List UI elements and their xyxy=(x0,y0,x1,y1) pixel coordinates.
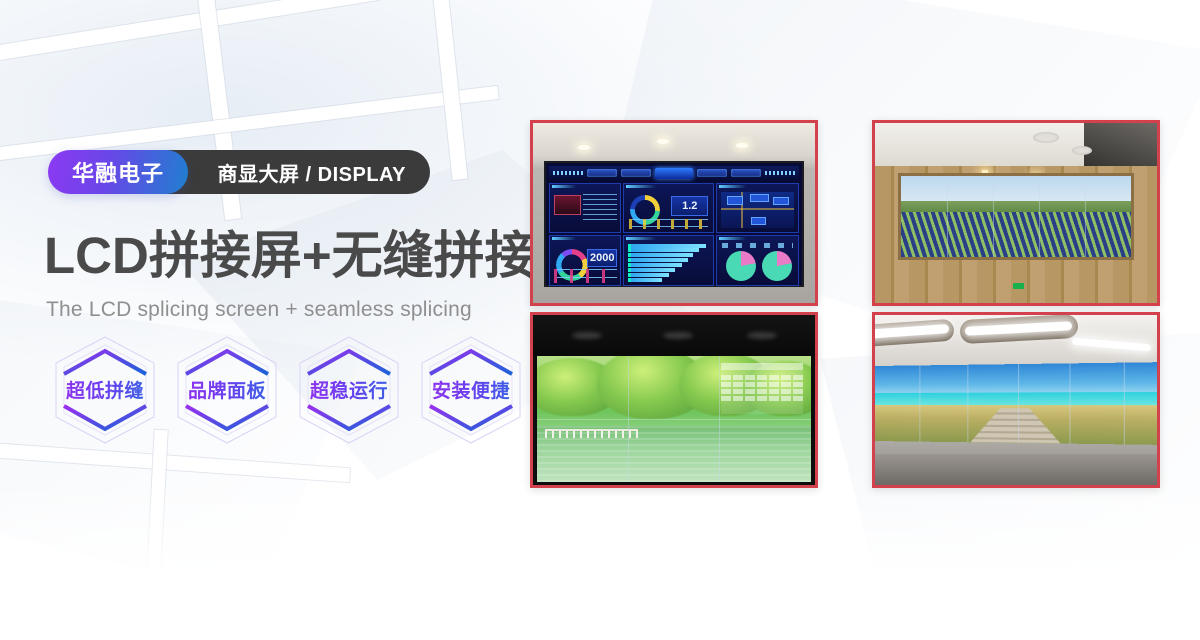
brand-pill-label: 华融电子 xyxy=(72,156,164,188)
bezel-reflection xyxy=(747,332,777,339)
screen-seam xyxy=(1018,364,1019,443)
video-wall-screen xyxy=(537,356,811,482)
screen-seam xyxy=(947,176,948,256)
screen-content-calendar xyxy=(721,363,803,413)
screen-content-railing xyxy=(545,429,638,438)
video-wall-screen: 1.2 2000 xyxy=(544,161,803,287)
photo-scene xyxy=(875,123,1157,303)
bezel-reflection xyxy=(663,332,693,339)
feature-badge-3: 安装便捷 xyxy=(416,334,526,446)
dashboard-row-top: 1.2 xyxy=(549,183,798,233)
screen-seam xyxy=(537,419,811,420)
calendar-header xyxy=(721,363,803,370)
photo-dashboard-video-wall: 1.2 2000 xyxy=(530,120,818,306)
screen-seam xyxy=(1070,363,1071,443)
screen-content-sky xyxy=(901,176,1132,202)
dashboard-row-bottom: 2000 xyxy=(549,235,798,286)
kpi-value: 1.2 xyxy=(671,196,708,216)
ceiling-fixture xyxy=(1033,132,1059,143)
category-pill: 商显大屏 / DISPLAY xyxy=(146,150,430,194)
feature-badge-label: 超低拼缝 xyxy=(50,376,160,403)
product-banner: 商显大屏 / DISPLAY 华融电子 LCD拼接屏+无缝拼接 The LCD … xyxy=(0,0,1200,640)
flow-diagram xyxy=(721,192,794,228)
feature-badge-label: 超稳运行 xyxy=(294,376,404,403)
ceiling-spotlight xyxy=(578,145,590,150)
dashboard-card-bars xyxy=(623,235,713,286)
screen-content-solar-panels xyxy=(901,212,1132,257)
brand-pill: 华融电子 xyxy=(48,150,188,194)
photo-scene xyxy=(533,315,815,485)
feature-badge-1: 品牌面板 xyxy=(172,334,282,446)
feature-badge-row: 超低拼缝 品牌面板 超稳运行 xyxy=(50,334,526,446)
dashboard-card-donut: 1.2 xyxy=(623,183,713,233)
feature-badge-2: 超稳运行 xyxy=(294,334,404,446)
screen-seam xyxy=(1124,363,1125,445)
screen-seam xyxy=(1039,176,1040,256)
kpi-value: 2000 xyxy=(587,249,616,267)
screen-top-bezel xyxy=(533,315,815,356)
ceiling-spotlight xyxy=(736,143,748,148)
floor xyxy=(875,454,1157,485)
photo-scene: 1.2 2000 xyxy=(533,123,815,303)
headline: LCD拼接屏+无缝拼接 xyxy=(44,228,536,283)
feature-badge-label: 品牌面板 xyxy=(172,376,282,403)
screen-seam xyxy=(993,176,994,256)
video-wall-screen xyxy=(875,362,1160,445)
pie-chart xyxy=(762,251,792,281)
photo-lakeside-video-wall xyxy=(530,312,818,488)
exit-sign-icon xyxy=(1013,283,1024,289)
feature-badge-0: 超低拼缝 xyxy=(50,334,160,446)
dashboard-card-donut2: 2000 xyxy=(549,235,621,286)
photo-scene xyxy=(875,315,1157,485)
photo-solar-farm-video-wall xyxy=(872,120,1160,306)
subheadline: The LCD splicing screen + seamless splic… xyxy=(46,298,472,322)
video-wall-screen xyxy=(898,173,1135,259)
feature-badge-label: 安装便捷 xyxy=(416,376,526,403)
brand-pill-row: 商显大屏 / DISPLAY 华融电子 xyxy=(48,150,188,194)
dashboard-card-intro xyxy=(549,183,621,233)
dashboard-card-flow xyxy=(716,183,799,233)
bar-chart xyxy=(628,244,709,282)
category-pill-label: 商显大屏 / DISPLAY xyxy=(217,158,406,187)
bezel-reflection xyxy=(572,332,602,339)
dashboard-navbar xyxy=(549,166,798,181)
screen-seam xyxy=(968,365,969,442)
dashboard-card-pies xyxy=(716,235,799,286)
ceiling-dark-recess xyxy=(1084,123,1157,166)
calendar-grid xyxy=(721,375,803,401)
screen-seam xyxy=(1085,176,1086,256)
pie-chart xyxy=(726,251,756,281)
background-bottom-fade xyxy=(0,480,1200,640)
screen-seam xyxy=(919,365,920,441)
photo-beach-boardwalk-video-wall xyxy=(872,312,1160,488)
